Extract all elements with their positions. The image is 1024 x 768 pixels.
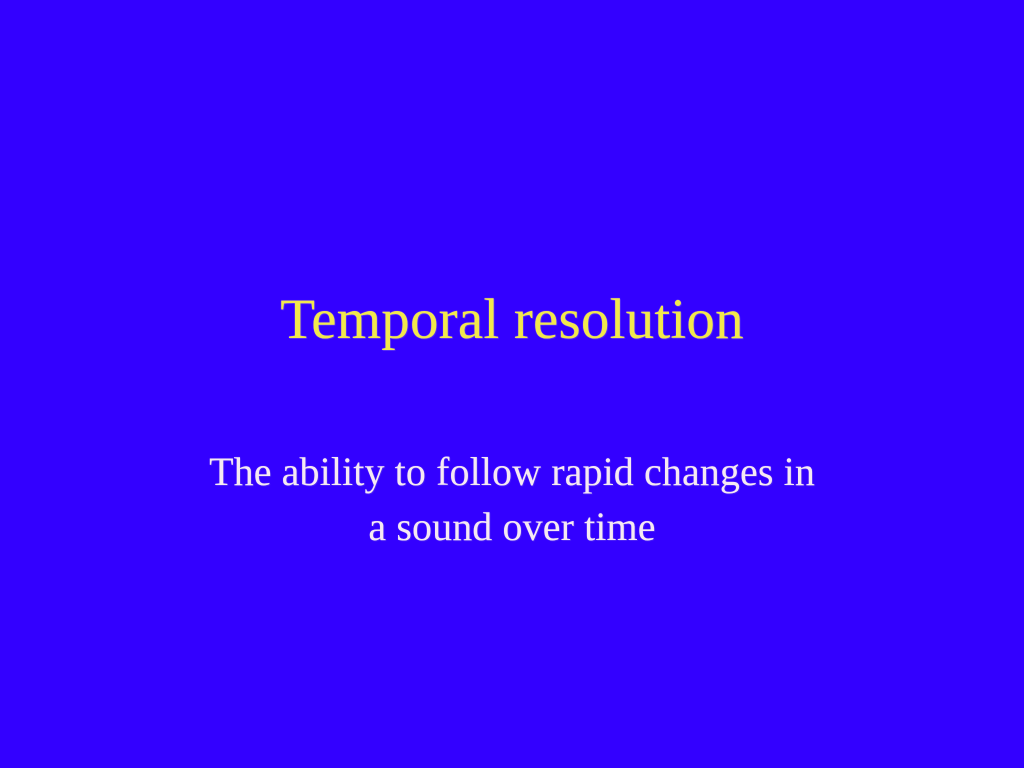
presentation-slide: Temporal resolution The ability to follo… — [0, 0, 1024, 768]
slide-title-container: Temporal resolution — [0, 280, 1024, 360]
body-text-line: a sound over time — [368, 499, 655, 554]
slide-title: Temporal resolution — [280, 290, 744, 350]
body-text-line: The ability to follow rapid changes in — [209, 444, 815, 499]
slide-body-container: The ability to follow rapid changes in a… — [0, 444, 1024, 554]
